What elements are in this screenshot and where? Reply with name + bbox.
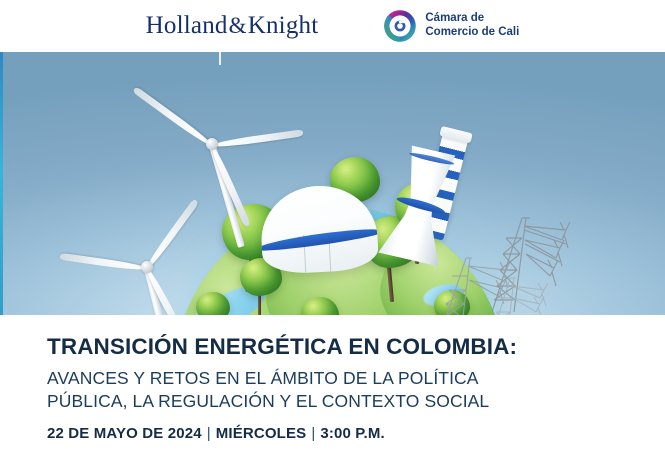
event-flyer: Holland&Knight — [0, 0, 665, 450]
hero-illustration — [0, 52, 665, 315]
datetime-separator-1: | — [202, 425, 216, 442]
turbine-blade — [212, 129, 304, 149]
holland-knight-logo: Holland&Knight — [146, 12, 319, 40]
smokestack-cap — [439, 126, 472, 143]
camara-line-2: Comercio de Cali — [425, 26, 519, 40]
tree-canopy — [196, 292, 230, 315]
event-datetime: 22 DE MAYO DE 2024|MIÉRCOLES|3:00 P.M. — [47, 425, 665, 442]
camara-line-1: Cámara de — [425, 12, 519, 26]
event-subtitle: AVANCES Y RETOS EN EL ÁMBITO DE LA POLÍT… — [47, 367, 665, 413]
left-accent-bar — [0, 52, 3, 315]
camara-comercio-wordmark: Cámara de Comercio de Cali — [425, 12, 519, 39]
event-date: 22 DE MAYO DE 2024 — [47, 425, 202, 442]
event-title: TRANSICIÓN ENERGÉTICA EN COLOMBIA: — [47, 335, 665, 360]
event-details: TRANSICIÓN ENERGÉTICA EN COLOMBIA: AVANC… — [0, 315, 665, 450]
camara-comercio-cali-logo: Cámara de Comercio de Cali — [382, 8, 519, 44]
dome-blue-band — [259, 225, 379, 254]
turbine-blade — [132, 86, 214, 148]
ampersand-glyph: & — [228, 13, 248, 38]
event-subtitle-line-1: AVANCES Y RETOS EN EL ÁMBITO DE LA POLÍT… — [47, 367, 665, 390]
transmission-tower-3 — [476, 268, 568, 315]
turbine-hub — [206, 138, 218, 150]
event-weekday: MIÉRCOLES — [216, 425, 307, 442]
holland-knight-part1: Holland — [146, 12, 228, 39]
turbine-blade — [59, 253, 147, 272]
turbine-hub — [141, 261, 153, 273]
event-subtitle-line-2: PÚBLICA, LA REGULACIÓN Y EL CONTEXTO SOC… — [47, 390, 665, 413]
camara-comercio-ring-icon — [382, 8, 418, 44]
header-seam-line — [219, 52, 221, 65]
turbine-blade — [144, 198, 199, 270]
header-logos-bar: Holland&Knight — [0, 0, 665, 52]
event-time: 3:00 P.M. — [320, 425, 384, 442]
holland-knight-part2: Knight — [248, 12, 319, 39]
datetime-separator-2: | — [306, 425, 320, 442]
